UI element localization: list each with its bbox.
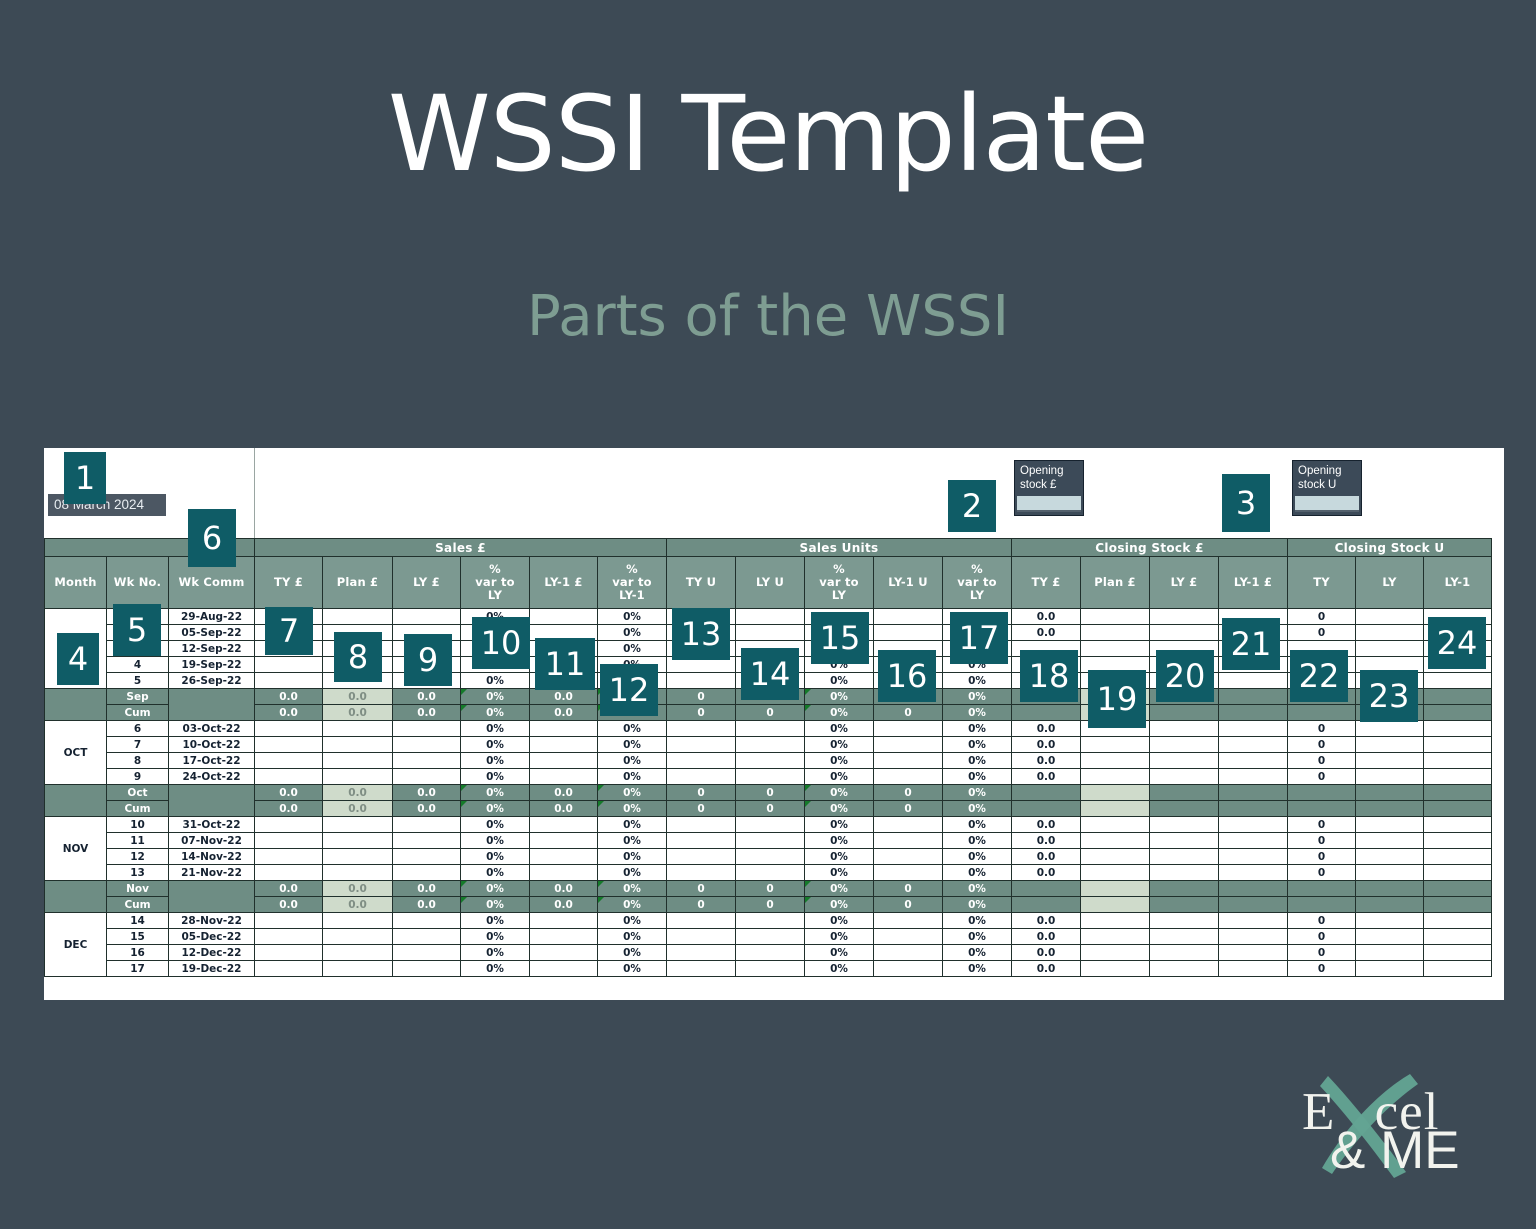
units-ly-cell[interactable] — [736, 817, 805, 833]
cum-sales-pct-var-ly-cell[interactable]: 0% — [461, 705, 530, 721]
sales-pct-var-ly-cell[interactable]: 0% — [461, 833, 530, 849]
closing-stock-ly-units-cell[interactable] — [1356, 817, 1424, 833]
cum-closing-stock-ly1-gbp-cell[interactable] — [1219, 801, 1288, 817]
cum-closing-stock-ly1-gbp-cell[interactable] — [1219, 705, 1288, 721]
units-ty-cell[interactable] — [667, 817, 736, 833]
units-ty-cell[interactable] — [667, 769, 736, 785]
cum-units-ly-cell[interactable]: 0 — [736, 705, 805, 721]
opening-stock-units-box[interactable]: Opening stock U — [1292, 460, 1362, 516]
sales-pct-var-ly-cell[interactable]: 0% — [461, 753, 530, 769]
week-commencing-cell[interactable]: 12-Dec-22 — [169, 945, 255, 961]
closing-stock-ly1-gbp-cell[interactable] — [1219, 721, 1288, 737]
month-label-cell[interactable]: DEC — [45, 913, 107, 977]
closing-stock-plan-gbp-cell[interactable] — [1081, 849, 1150, 865]
closing-stock-ly1-gbp-cell[interactable] — [1219, 833, 1288, 849]
cum-units-pct-var-ly1-cell[interactable]: 0% — [943, 689, 1012, 705]
units-pct-var-ly1-cell[interactable]: 0% — [943, 945, 1012, 961]
sales-ty-gbp-cell[interactable] — [255, 833, 323, 849]
col-header-1[interactable]: Wk No. — [107, 557, 169, 609]
units-ly-cell[interactable] — [736, 625, 805, 641]
cum-sales-ly1-gbp-cell[interactable]: 0.0 — [530, 705, 598, 721]
cum-closing-stock-ly-gbp-cell[interactable] — [1150, 881, 1219, 897]
units-pct-var-ly-cell[interactable]: 0% — [805, 833, 874, 849]
col-header-14[interactable]: TY £ — [1012, 557, 1081, 609]
cum-closing-stock-ly-units-cell[interactable] — [1356, 785, 1424, 801]
sales-ty-gbp-cell[interactable] — [255, 753, 323, 769]
closing-stock-plan-gbp-cell[interactable] — [1081, 641, 1150, 657]
units-pct-var-ly-cell[interactable]: 0% — [805, 945, 874, 961]
cum-label-cell[interactable]: Cum — [107, 801, 169, 817]
closing-stock-ty-units-cell[interactable]: 0 — [1288, 929, 1356, 945]
units-ly1-cell[interactable] — [874, 609, 943, 625]
units-ly1-cell[interactable] — [874, 961, 943, 977]
week-number-cell[interactable]: 4 — [107, 657, 169, 673]
cum-label-cell[interactable]: Sep — [107, 689, 169, 705]
cum-sales-ly1-gbp-cell[interactable]: 0.0 — [530, 785, 598, 801]
units-ty-cell[interactable] — [667, 913, 736, 929]
cum-month-spacer[interactable] — [45, 881, 107, 913]
cum-units-ty-cell[interactable]: 0 — [667, 705, 736, 721]
cum-closing-stock-ty-gbp-cell[interactable] — [1012, 785, 1081, 801]
closing-stock-ly-units-cell[interactable] — [1356, 865, 1424, 881]
sales-ly-gbp-cell[interactable] — [393, 849, 461, 865]
cum-units-ly-cell[interactable]: 0 — [736, 801, 805, 817]
units-pct-var-ly1-cell[interactable]: 0% — [943, 865, 1012, 881]
cum-units-ly1-cell[interactable]: 0 — [874, 801, 943, 817]
sales-ly-gbp-cell[interactable] — [393, 929, 461, 945]
sales-plan-gbp-cell[interactable] — [323, 929, 393, 945]
sales-plan-gbp-cell[interactable] — [323, 849, 393, 865]
sales-pct-var-ly1-cell[interactable]: 0% — [598, 721, 667, 737]
week-number-cell[interactable]: 6 — [107, 721, 169, 737]
sales-pct-var-ly1-cell[interactable]: 0% — [598, 913, 667, 929]
sales-pct-var-ly1-cell[interactable]: 0% — [598, 609, 667, 625]
units-pct-var-ly-cell[interactable]: 0% — [805, 929, 874, 945]
sales-pct-var-ly-cell[interactable]: 0% — [461, 673, 530, 689]
col-header-11[interactable]: %var toLY — [805, 557, 874, 609]
units-ly-cell[interactable] — [736, 961, 805, 977]
sales-ly-gbp-cell[interactable] — [393, 737, 461, 753]
closing-stock-ty-gbp-cell[interactable]: 0.0 — [1012, 833, 1081, 849]
closing-stock-ly-units-cell[interactable] — [1356, 913, 1424, 929]
cum-closing-stock-ty-units-cell[interactable] — [1288, 897, 1356, 913]
closing-stock-ty-units-cell[interactable]: 0 — [1288, 721, 1356, 737]
cum-units-ly-cell[interactable]: 0 — [736, 881, 805, 897]
closing-stock-ly1-units-cell[interactable] — [1424, 721, 1492, 737]
units-pct-var-ly1-cell[interactable]: 0% — [943, 673, 1012, 689]
units-pct-var-ly1-cell[interactable]: 0% — [943, 753, 1012, 769]
units-ly1-cell[interactable] — [874, 769, 943, 785]
sales-pct-var-ly1-cell[interactable]: 0% — [598, 865, 667, 881]
closing-stock-plan-gbp-cell[interactable] — [1081, 817, 1150, 833]
closing-stock-ly-gbp-cell[interactable] — [1150, 913, 1219, 929]
closing-stock-ly-gbp-cell[interactable] — [1150, 945, 1219, 961]
closing-stock-plan-gbp-cell[interactable] — [1081, 833, 1150, 849]
cum-closing-stock-ty-units-cell[interactable] — [1288, 785, 1356, 801]
closing-stock-ly-gbp-cell[interactable] — [1150, 929, 1219, 945]
units-ly1-cell[interactable] — [874, 625, 943, 641]
week-commencing-cell[interactable]: 17-Oct-22 — [169, 753, 255, 769]
sales-ty-gbp-cell[interactable] — [255, 961, 323, 977]
cum-units-ly1-cell[interactable]: 0 — [874, 881, 943, 897]
sales-ly1-gbp-cell[interactable] — [530, 961, 598, 977]
cum-weekcomm-spacer[interactable] — [169, 689, 255, 721]
sales-ly-gbp-cell[interactable] — [393, 833, 461, 849]
sales-ly-gbp-cell[interactable] — [393, 961, 461, 977]
sales-pct-var-ly-cell[interactable]: 0% — [461, 913, 530, 929]
sales-plan-gbp-cell[interactable] — [323, 833, 393, 849]
sales-pct-var-ly1-cell[interactable]: 0% — [598, 753, 667, 769]
units-pct-var-ly-cell[interactable]: 0% — [805, 753, 874, 769]
sales-pct-var-ly1-cell[interactable]: 0% — [598, 769, 667, 785]
week-commencing-cell[interactable]: 24-Oct-22 — [169, 769, 255, 785]
units-ly-cell[interactable] — [736, 769, 805, 785]
col-header-7[interactable]: LY-1 £ — [530, 557, 598, 609]
closing-stock-ly-units-cell[interactable] — [1356, 769, 1424, 785]
units-pct-var-ly-cell[interactable]: 0% — [805, 849, 874, 865]
sales-plan-gbp-cell[interactable] — [323, 865, 393, 881]
sales-ty-gbp-cell[interactable] — [255, 737, 323, 753]
units-ty-cell[interactable] — [667, 673, 736, 689]
week-number-cell[interactable]: 10 — [107, 817, 169, 833]
month-label-cell[interactable]: OCT — [45, 721, 107, 785]
week-commencing-cell[interactable]: 21-Nov-22 — [169, 865, 255, 881]
week-commencing-cell[interactable]: 05-Dec-22 — [169, 929, 255, 945]
closing-stock-plan-gbp-cell[interactable] — [1081, 865, 1150, 881]
units-ly1-cell[interactable] — [874, 945, 943, 961]
units-ty-cell[interactable] — [667, 865, 736, 881]
units-ly1-cell[interactable] — [874, 737, 943, 753]
units-ty-cell[interactable] — [667, 929, 736, 945]
units-pct-var-ly-cell[interactable]: 0% — [805, 817, 874, 833]
sales-pct-var-ly-cell[interactable]: 0% — [461, 945, 530, 961]
closing-stock-ly1-gbp-cell[interactable] — [1219, 753, 1288, 769]
sales-plan-gbp-cell[interactable] — [323, 721, 393, 737]
sales-ty-gbp-cell[interactable] — [255, 657, 323, 673]
closing-stock-plan-gbp-cell[interactable] — [1081, 609, 1150, 625]
cum-sales-pct-var-ly1-cell[interactable]: 0% — [598, 881, 667, 897]
units-pct-var-ly-cell[interactable]: 0% — [805, 769, 874, 785]
sales-ly-gbp-cell[interactable] — [393, 721, 461, 737]
closing-stock-plan-gbp-cell[interactable] — [1081, 929, 1150, 945]
cum-units-ty-cell[interactable]: 0 — [667, 881, 736, 897]
units-ly1-cell[interactable] — [874, 865, 943, 881]
cum-label-cell[interactable]: Oct — [107, 785, 169, 801]
cum-closing-stock-ly-units-cell[interactable] — [1356, 801, 1424, 817]
sales-pct-var-ly1-cell[interactable]: 0% — [598, 929, 667, 945]
cum-units-pct-var-ly-cell[interactable]: 0% — [805, 881, 874, 897]
sales-ly1-gbp-cell[interactable] — [530, 817, 598, 833]
closing-stock-ly-units-cell[interactable] — [1356, 625, 1424, 641]
closing-stock-ly1-gbp-cell[interactable] — [1219, 737, 1288, 753]
units-ly-cell[interactable] — [736, 609, 805, 625]
cum-units-pct-var-ly1-cell[interactable]: 0% — [943, 785, 1012, 801]
cum-sales-pct-var-ly1-cell[interactable]: 0% — [598, 897, 667, 913]
cum-closing-stock-ly1-units-cell[interactable] — [1424, 689, 1492, 705]
closing-stock-ly-gbp-cell[interactable] — [1150, 721, 1219, 737]
week-number-cell[interactable]: 11 — [107, 833, 169, 849]
closing-stock-ty-units-cell[interactable]: 0 — [1288, 769, 1356, 785]
cum-units-pct-var-ly1-cell[interactable]: 0% — [943, 705, 1012, 721]
cum-sales-ly-gbp-cell[interactable]: 0.0 — [393, 705, 461, 721]
cum-sales-ly1-gbp-cell[interactable]: 0.0 — [530, 897, 598, 913]
closing-stock-ty-gbp-cell[interactable]: 0.0 — [1012, 721, 1081, 737]
cum-closing-stock-ly-gbp-cell[interactable] — [1150, 785, 1219, 801]
wssi-spreadsheet[interactable]: 08 March 2024 Opening stock £ Opening st… — [44, 448, 1504, 1000]
closing-stock-ly1-units-cell[interactable] — [1424, 913, 1492, 929]
units-pct-var-ly-cell[interactable]: 0% — [805, 913, 874, 929]
week-commencing-cell[interactable]: 31-Oct-22 — [169, 817, 255, 833]
closing-stock-ly-gbp-cell[interactable] — [1150, 817, 1219, 833]
week-number-cell[interactable]: 16 — [107, 945, 169, 961]
closing-stock-ly-units-cell[interactable] — [1356, 849, 1424, 865]
cum-closing-stock-ty-gbp-cell[interactable] — [1012, 705, 1081, 721]
sales-ty-gbp-cell[interactable] — [255, 817, 323, 833]
cum-sales-pct-var-ly-cell[interactable]: 0% — [461, 881, 530, 897]
units-ly1-cell[interactable] — [874, 913, 943, 929]
week-commencing-cell[interactable]: 29-Aug-22 — [169, 609, 255, 625]
closing-stock-ty-gbp-cell[interactable]: 0.0 — [1012, 913, 1081, 929]
sales-pct-var-ly1-cell[interactable]: 0% — [598, 625, 667, 641]
closing-stock-ty-gbp-cell[interactable]: 0.0 — [1012, 817, 1081, 833]
units-ly1-cell[interactable] — [874, 929, 943, 945]
sales-plan-gbp-cell[interactable] — [323, 753, 393, 769]
closing-stock-ly-units-cell[interactable] — [1356, 737, 1424, 753]
cum-closing-stock-ly1-gbp-cell[interactable] — [1219, 689, 1288, 705]
units-ty-cell[interactable] — [667, 961, 736, 977]
cum-sales-ty-gbp-cell[interactable]: 0.0 — [255, 801, 323, 817]
closing-stock-ty-units-cell[interactable]: 0 — [1288, 817, 1356, 833]
cum-closing-stock-ly1-units-cell[interactable] — [1424, 785, 1492, 801]
week-commencing-cell[interactable]: 10-Oct-22 — [169, 737, 255, 753]
cum-sales-plan-gbp-cell[interactable]: 0.0 — [323, 801, 393, 817]
units-ly-cell[interactable] — [736, 753, 805, 769]
sales-pct-var-ly1-cell[interactable]: 0% — [598, 961, 667, 977]
sales-pct-var-ly-cell[interactable]: 0% — [461, 865, 530, 881]
closing-stock-ly1-gbp-cell[interactable] — [1219, 913, 1288, 929]
sales-plan-gbp-cell[interactable] — [323, 913, 393, 929]
units-ly1-cell[interactable] — [874, 721, 943, 737]
sales-ly-gbp-cell[interactable] — [393, 913, 461, 929]
sales-plan-gbp-cell[interactable] — [323, 961, 393, 977]
units-ly1-cell[interactable] — [874, 817, 943, 833]
cum-closing-stock-plan-gbp-cell[interactable] — [1081, 785, 1150, 801]
week-commencing-cell[interactable]: 14-Nov-22 — [169, 849, 255, 865]
closing-stock-ly1-gbp-cell[interactable] — [1219, 817, 1288, 833]
sales-plan-gbp-cell[interactable] — [323, 945, 393, 961]
closing-stock-ty-gbp-cell[interactable]: 0.0 — [1012, 929, 1081, 945]
opening-stock-units-input[interactable] — [1295, 496, 1359, 512]
sales-plan-gbp-cell[interactable] — [323, 737, 393, 753]
sales-pct-var-ly-cell[interactable]: 0% — [461, 961, 530, 977]
closing-stock-ly-gbp-cell[interactable] — [1150, 833, 1219, 849]
week-number-cell[interactable]: 13 — [107, 865, 169, 881]
closing-stock-ly1-gbp-cell[interactable] — [1219, 865, 1288, 881]
units-ly1-cell[interactable] — [874, 849, 943, 865]
sales-ty-gbp-cell[interactable] — [255, 945, 323, 961]
units-pct-var-ly1-cell[interactable]: 0% — [943, 817, 1012, 833]
units-pct-var-ly1-cell[interactable]: 0% — [943, 769, 1012, 785]
units-ly1-cell[interactable] — [874, 753, 943, 769]
cum-sales-plan-gbp-cell[interactable]: 0.0 — [323, 705, 393, 721]
week-number-cell[interactable]: 8 — [107, 753, 169, 769]
units-ly-cell[interactable] — [736, 929, 805, 945]
sales-ly1-gbp-cell[interactable] — [530, 833, 598, 849]
units-pct-var-ly-cell[interactable]: 0% — [805, 865, 874, 881]
cum-sales-ly-gbp-cell[interactable]: 0.0 — [393, 689, 461, 705]
sales-ly1-gbp-cell[interactable] — [530, 865, 598, 881]
closing-stock-ly-units-cell[interactable] — [1356, 929, 1424, 945]
closing-stock-ly-gbp-cell[interactable] — [1150, 753, 1219, 769]
units-pct-var-ly1-cell[interactable]: 0% — [943, 833, 1012, 849]
closing-stock-ly1-units-cell[interactable] — [1424, 929, 1492, 945]
units-ly-cell[interactable] — [736, 833, 805, 849]
cum-closing-stock-ty-units-cell[interactable] — [1288, 705, 1356, 721]
closing-stock-ty-gbp-cell[interactable]: 0.0 — [1012, 769, 1081, 785]
cum-closing-stock-ly-units-cell[interactable] — [1356, 881, 1424, 897]
closing-stock-plan-gbp-cell[interactable] — [1081, 753, 1150, 769]
closing-stock-ty-units-cell[interactable]: 0 — [1288, 609, 1356, 625]
sales-ly1-gbp-cell[interactable] — [530, 849, 598, 865]
units-pct-var-ly-cell[interactable]: 0% — [805, 737, 874, 753]
sales-pct-var-ly1-cell[interactable]: 0% — [598, 737, 667, 753]
cum-units-ty-cell[interactable]: 0 — [667, 785, 736, 801]
col-header-19[interactable]: LY — [1356, 557, 1424, 609]
cum-closing-stock-ly-gbp-cell[interactable] — [1150, 705, 1219, 721]
cum-sales-pct-var-ly-cell[interactable]: 0% — [461, 897, 530, 913]
closing-stock-ly1-gbp-cell[interactable] — [1219, 945, 1288, 961]
week-commencing-cell[interactable]: 19-Dec-22 — [169, 961, 255, 977]
units-pct-var-ly1-cell[interactable]: 0% — [943, 913, 1012, 929]
cum-units-ly1-cell[interactable]: 0 — [874, 785, 943, 801]
cum-units-ty-cell[interactable]: 0 — [667, 801, 736, 817]
cum-closing-stock-ty-gbp-cell[interactable] — [1012, 881, 1081, 897]
sales-pct-var-ly1-cell[interactable]: 0% — [598, 817, 667, 833]
sales-ly-gbp-cell[interactable] — [393, 753, 461, 769]
col-header-17[interactable]: LY-1 £ — [1219, 557, 1288, 609]
col-header-16[interactable]: LY £ — [1150, 557, 1219, 609]
units-pct-var-ly1-cell[interactable]: 0% — [943, 929, 1012, 945]
col-header-18[interactable]: TY — [1288, 557, 1356, 609]
closing-stock-ly1-units-cell[interactable] — [1424, 849, 1492, 865]
units-pct-var-ly1-cell[interactable]: 0% — [943, 849, 1012, 865]
closing-stock-ly1-units-cell[interactable] — [1424, 753, 1492, 769]
sales-ty-gbp-cell[interactable] — [255, 929, 323, 945]
col-header-8[interactable]: %var toLY-1 — [598, 557, 667, 609]
sales-ty-gbp-cell[interactable] — [255, 721, 323, 737]
cum-weekcomm-spacer[interactable] — [169, 785, 255, 817]
sales-ly-gbp-cell[interactable] — [393, 817, 461, 833]
sales-ly-gbp-cell[interactable] — [393, 945, 461, 961]
closing-stock-ly1-gbp-cell[interactable] — [1219, 673, 1288, 689]
units-ly1-cell[interactable] — [874, 833, 943, 849]
closing-stock-ly1-units-cell[interactable] — [1424, 865, 1492, 881]
cum-closing-stock-ly1-units-cell[interactable] — [1424, 881, 1492, 897]
sales-ly1-gbp-cell[interactable] — [530, 721, 598, 737]
sales-plan-gbp-cell[interactable] — [323, 609, 393, 625]
week-commencing-cell[interactable]: 05-Sep-22 — [169, 625, 255, 641]
cum-weekcomm-spacer[interactable] — [169, 881, 255, 913]
sales-ly1-gbp-cell[interactable] — [530, 737, 598, 753]
cum-sales-plan-gbp-cell[interactable]: 0.0 — [323, 897, 393, 913]
cum-sales-ly1-gbp-cell[interactable]: 0.0 — [530, 881, 598, 897]
closing-stock-ty-units-cell[interactable]: 0 — [1288, 865, 1356, 881]
cum-units-ly1-cell[interactable]: 0 — [874, 897, 943, 913]
closing-stock-ly-gbp-cell[interactable] — [1150, 625, 1219, 641]
closing-stock-ly-units-cell[interactable] — [1356, 641, 1424, 657]
closing-stock-ty-units-cell[interactable]: 0 — [1288, 961, 1356, 977]
closing-stock-ly-gbp-cell[interactable] — [1150, 769, 1219, 785]
cum-units-ly-cell[interactable]: 0 — [736, 785, 805, 801]
cum-sales-pct-var-ly-cell[interactable]: 0% — [461, 801, 530, 817]
cum-closing-stock-ly-gbp-cell[interactable] — [1150, 801, 1219, 817]
units-pct-var-ly1-cell[interactable]: 0% — [943, 961, 1012, 977]
cum-units-pct-var-ly-cell[interactable]: 0% — [805, 785, 874, 801]
col-header-3[interactable]: TY £ — [255, 557, 323, 609]
cum-month-spacer[interactable] — [45, 689, 107, 721]
sales-pct-var-ly-cell[interactable]: 0% — [461, 849, 530, 865]
closing-stock-ly1-units-cell[interactable] — [1424, 817, 1492, 833]
closing-stock-plan-gbp-cell[interactable] — [1081, 961, 1150, 977]
closing-stock-ly1-units-cell[interactable] — [1424, 833, 1492, 849]
cum-closing-stock-ly1-units-cell[interactable] — [1424, 705, 1492, 721]
closing-stock-plan-gbp-cell[interactable] — [1081, 737, 1150, 753]
col-header-0[interactable]: Month — [45, 557, 107, 609]
sales-pct-var-ly1-cell[interactable]: 0% — [598, 849, 667, 865]
cum-sales-plan-gbp-cell[interactable]: 0.0 — [323, 689, 393, 705]
cum-units-pct-var-ly-cell[interactable]: 0% — [805, 689, 874, 705]
cum-units-pct-var-ly-cell[interactable]: 0% — [805, 897, 874, 913]
col-header-20[interactable]: LY-1 — [1424, 557, 1492, 609]
units-pct-var-ly1-cell[interactable]: 0% — [943, 721, 1012, 737]
col-header-13[interactable]: %var toLY — [943, 557, 1012, 609]
units-pct-var-ly-cell[interactable]: 0% — [805, 673, 874, 689]
week-commencing-cell[interactable]: 19-Sep-22 — [169, 657, 255, 673]
closing-stock-ly-units-cell[interactable] — [1356, 753, 1424, 769]
cum-closing-stock-ly-units-cell[interactable] — [1356, 897, 1424, 913]
cum-sales-plan-gbp-cell[interactable]: 0.0 — [323, 881, 393, 897]
cum-closing-stock-ty-gbp-cell[interactable] — [1012, 897, 1081, 913]
col-header-15[interactable]: Plan £ — [1081, 557, 1150, 609]
sales-pct-var-ly1-cell[interactable]: 0% — [598, 833, 667, 849]
closing-stock-ly1-gbp-cell[interactable] — [1219, 929, 1288, 945]
sales-plan-gbp-cell[interactable] — [323, 817, 393, 833]
cum-closing-stock-ly1-units-cell[interactable] — [1424, 897, 1492, 913]
cum-sales-pct-var-ly1-cell[interactable]: 0% — [598, 785, 667, 801]
closing-stock-ty-units-cell[interactable]: 0 — [1288, 625, 1356, 641]
cum-sales-pct-var-ly-cell[interactable]: 0% — [461, 689, 530, 705]
cum-sales-pct-var-ly-cell[interactable]: 0% — [461, 785, 530, 801]
cum-closing-stock-ly1-gbp-cell[interactable] — [1219, 897, 1288, 913]
units-ty-cell[interactable] — [667, 737, 736, 753]
week-commencing-cell[interactable]: 26-Sep-22 — [169, 673, 255, 689]
sales-ty-gbp-cell[interactable] — [255, 673, 323, 689]
cum-sales-ly-gbp-cell[interactable]: 0.0 — [393, 785, 461, 801]
cum-closing-stock-plan-gbp-cell[interactable] — [1081, 897, 1150, 913]
sales-pct-var-ly-cell[interactable]: 0% — [461, 769, 530, 785]
opening-stock-gbp-box[interactable]: Opening stock £ — [1014, 460, 1084, 516]
week-commencing-cell[interactable]: 07-Nov-22 — [169, 833, 255, 849]
cum-sales-ty-gbp-cell[interactable]: 0.0 — [255, 689, 323, 705]
closing-stock-ty-gbp-cell[interactable]: 0.0 — [1012, 945, 1081, 961]
closing-stock-ly-gbp-cell[interactable] — [1150, 961, 1219, 977]
col-header-10[interactable]: LY U — [736, 557, 805, 609]
closing-stock-ly1-units-cell[interactable] — [1424, 961, 1492, 977]
week-commencing-cell[interactable]: 12-Sep-22 — [169, 641, 255, 657]
closing-stock-ty-gbp-cell[interactable]: 0.0 — [1012, 961, 1081, 977]
sales-ly-gbp-cell[interactable] — [393, 769, 461, 785]
wssi-data-table[interactable]: Sales £Sales UnitsClosing Stock £Closing… — [44, 538, 1492, 977]
